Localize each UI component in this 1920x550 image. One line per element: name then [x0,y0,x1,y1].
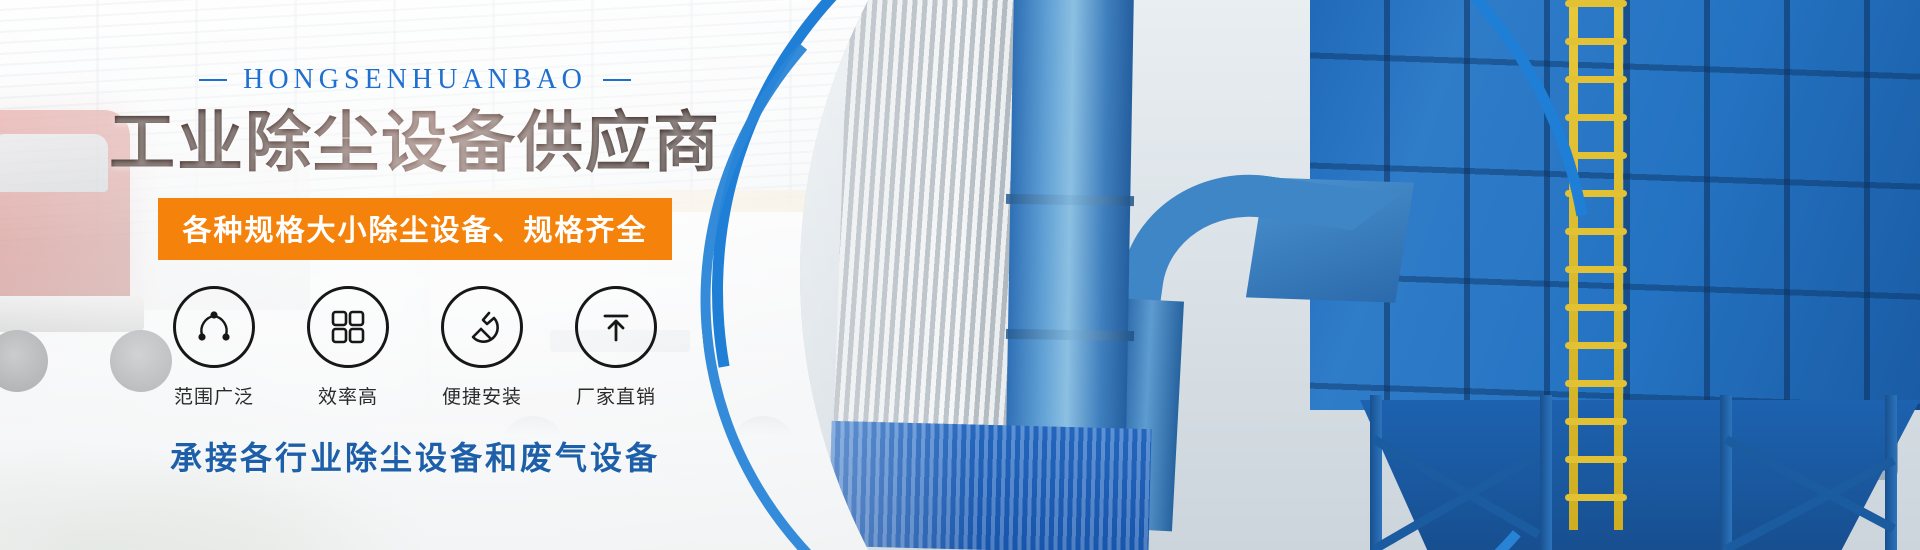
brand-eyebrow-text: HONGSENHUANBAO [243,64,587,96]
feature-icon-circle [575,286,657,368]
right-background-photo [800,0,1920,550]
feature-item-installation[interactable]: 便捷安装 [438,286,526,409]
feature-item-factory-direct[interactable]: 厂家直销 [572,286,660,409]
dash-right-icon [603,79,631,81]
dash-left-icon [199,79,227,81]
highlight-bar-wrap: 各种规格大小除尘设备、规格齐全 [0,180,830,260]
feature-icon-circle [173,286,255,368]
feature-item-efficiency[interactable]: 效率高 [304,286,392,409]
page-title: 工业除尘设备供应商 [0,106,830,180]
highlight-bar: 各种规格大小除尘设备、规格齐全 [158,198,671,260]
hero-banner: HONGSENHUANBAO 工业除尘设备供应商 各种规格大小除尘设备、规格齐全 [0,0,1920,550]
grid-squares-icon [328,307,368,347]
feature-label: 厂家直销 [572,382,660,409]
feature-icon-circle [307,286,389,368]
banner-content: HONGSENHUANBAO 工业除尘设备供应商 各种规格大小除尘设备、规格齐全 [0,0,830,550]
feature-label: 便捷安装 [438,382,526,409]
brand-eyebrow: HONGSENHUANBAO [0,0,830,96]
wrench-circle-icon [461,306,503,348]
feature-label: 范围广泛 [170,382,258,409]
feature-label: 效率高 [304,382,392,409]
feature-list: 范围广泛 效率高 [0,286,830,409]
feature-icon-circle [441,286,523,368]
up-arrow-icon [596,307,636,347]
feature-item-range[interactable]: 范围广泛 [170,286,258,409]
network-nodes-icon [193,306,235,348]
tagline: 承接各行业除尘设备和废气设备 [0,433,830,479]
photo-edge-shade [800,0,1920,550]
